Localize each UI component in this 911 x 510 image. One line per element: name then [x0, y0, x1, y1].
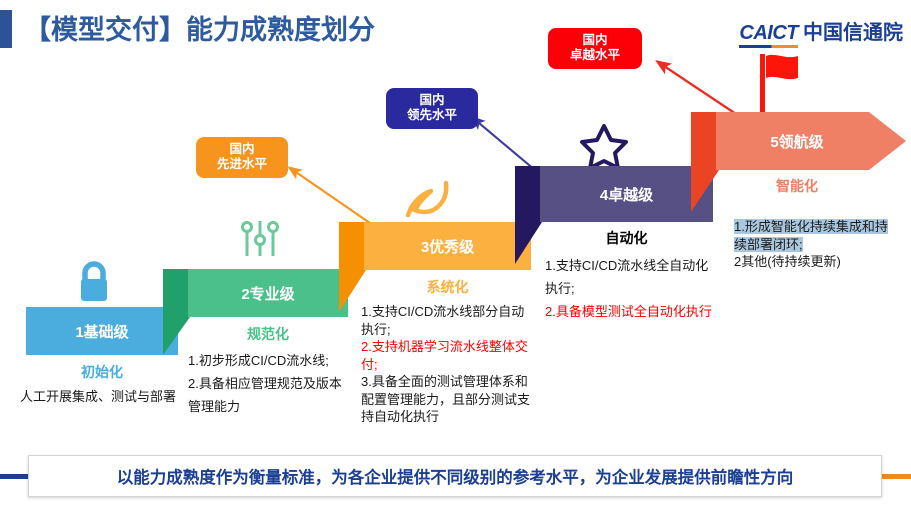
step-5-level: 5领航级 — [716, 112, 878, 170]
step-3-subtitle: 系统化 — [364, 277, 531, 297]
callout-leading-line2: 领先水平 — [396, 108, 468, 123]
step-3-item-1: 2.支持机器学习流水线整体交付; — [361, 338, 531, 373]
sliders-icon — [238, 218, 282, 265]
step-2-subtitle: 规范化 — [188, 324, 348, 344]
step-1-items: 人工开展集成、测试与部署 — [20, 388, 180, 406]
callout-advanced[interactable]: 国内 先进水平 — [196, 137, 288, 178]
callout-excellent-line1: 国内 — [558, 33, 632, 48]
step-1-level: 1基础级 — [26, 307, 178, 355]
step-5-side-face — [691, 112, 719, 212]
step-5-item-1: 2其他(待持续更新) — [734, 253, 896, 271]
summary-banner: 以能力成熟度作为衡量标准，为各企业提供不同级别的参考水平，为企业发展提供前瞻性方… — [28, 455, 882, 497]
title-accent-bar — [0, 10, 12, 48]
step-5-item-0: 1.形成智能化持续集成和持续部署闭环; — [734, 219, 888, 252]
page-title: 【模型交付】能力成熟度划分 — [24, 8, 375, 47]
slide-canvas: 【模型交付】能力成熟度划分 CAICT 中国信通院 国内 先进水平 国内 领先水… — [0, 0, 911, 510]
logo-name-text: 中国信通院 — [803, 16, 903, 45]
step-3-side-face — [339, 222, 366, 312]
callout-advanced-line1: 国内 — [206, 142, 278, 157]
step-2-item-0: 1.初步形成CI/CD流水线; — [188, 350, 346, 373]
step-4-item-1: 2.具备模型测试全自动化执行 — [545, 301, 713, 324]
step-2-item-1: 2.具备相应管理规范及版本管理能力 — [188, 373, 346, 419]
step-3-items: 1.支持CI/CD流水线部分自动执行; 2.支持机器学习流水线整体交付; 3.具… — [361, 303, 531, 426]
step-3-item-2: 3.具备全面的测试管理体系和配置管理能力，且部分测试支持自动化执行 — [361, 373, 531, 426]
step-4-side-face — [515, 166, 542, 264]
lock-icon — [72, 258, 116, 313]
step-4-level: 4卓越级 — [540, 166, 713, 222]
caict-logo: CAICT 中国信通院 — [739, 16, 903, 48]
callout-advanced-line2: 先进水平 — [206, 157, 278, 172]
step-1-subtitle: 初始化 — [26, 362, 178, 382]
step-4-item-0: 1.支持CI/CD流水线全自动化执行; — [545, 255, 713, 301]
step-2-level: 2专业级 — [188, 269, 348, 317]
step-5-subtitle: 智能化 — [716, 176, 878, 196]
leaf-icon — [404, 178, 452, 225]
summary-banner-text: 以能力成熟度作为衡量标准，为各企业提供不同级别的参考水平，为企业发展提供前瞻性方… — [117, 464, 794, 488]
step-4-subtitle: 自动化 — [540, 228, 713, 248]
step-2-side-face — [163, 269, 190, 355]
callout-leading-line1: 国内 — [396, 93, 468, 108]
banner-rule-right — [877, 474, 911, 479]
callout-leading[interactable]: 国内 领先水平 — [386, 88, 478, 129]
step-2-items: 1.初步形成CI/CD流水线; 2.具备相应管理规范及版本管理能力 — [188, 350, 346, 418]
callout-excellent[interactable]: 国内 卓越水平 — [548, 28, 642, 69]
step-3-item-0: 1.支持CI/CD流水线部分自动执行; — [361, 303, 531, 338]
step-3-level: 3优秀级 — [364, 222, 531, 270]
flag-icon — [756, 52, 802, 119]
logo-mark-text: CAICT — [739, 22, 798, 48]
callout-excellent-line2: 卓越水平 — [558, 48, 632, 63]
step-5-items: 1.形成智能化持续集成和持续部署闭环; 2其他(待持续更新) — [734, 218, 896, 271]
step-4-items: 1.支持CI/CD流水线全自动化执行; 2.具备模型测试全自动化执行 — [545, 255, 713, 323]
step-1-item-0: 人工开展集成、测试与部署 — [20, 388, 180, 406]
